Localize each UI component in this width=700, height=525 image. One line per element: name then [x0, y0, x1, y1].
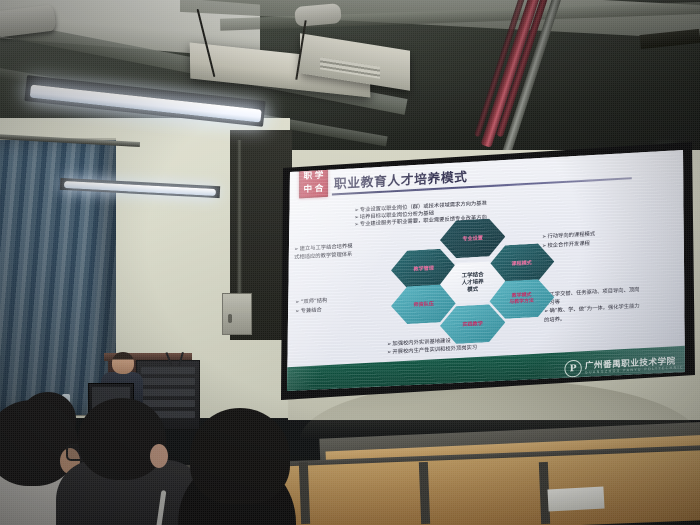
rack-slot: [141, 367, 195, 374]
bullet-marker-icon: ➢: [354, 215, 358, 221]
electrical-box-latch-icon: [228, 314, 232, 323]
bullet-marker-icon: ➢: [295, 299, 299, 305]
seal-char-4: 合: [314, 184, 325, 196]
institution-seal-icon: 职 学 中 合: [299, 168, 328, 198]
list-item: ➢“双师”结构: [295, 297, 327, 307]
presentation-slide: 职 学 中 合 职业教育人才培养模式 ➢专业设置以职业岗位（群）或技术领域需求方…: [287, 148, 687, 393]
left-upper-bullet-list: ➢建立与工学结合培养模式相适应的教学管理体系: [294, 242, 357, 262]
bullet-text: “双师”结构: [301, 298, 328, 306]
bullet-text: 专兼结合: [301, 307, 322, 314]
hex-node-top: 专业设置: [440, 218, 505, 259]
classroom-photo-scene: 职 学 中 合 职业教育人才培养模式 ➢专业设置以职业岗位（群）或技术领域需求方…: [0, 0, 700, 525]
ceiling-vent-small: [294, 3, 342, 27]
bullet-marker-icon: ➢: [387, 350, 391, 356]
institution-logo-icon: P: [564, 359, 581, 377]
bullet-marker-icon: ➢: [354, 207, 358, 213]
audience-head: [78, 398, 166, 480]
electrical-box: [222, 293, 252, 335]
bullet-text: 建立与工学结合培养模式相适应的教学管理体系: [294, 243, 352, 260]
seal-char-2: 学: [314, 170, 325, 182]
audience-head: [190, 408, 290, 504]
seal-char-3: 中: [302, 184, 313, 196]
seal-char-1: 职: [302, 171, 313, 183]
hex-node-bottom-right-line1: 教学模式 与教学方法: [509, 292, 533, 306]
bullet-marker-icon: ➢: [295, 308, 299, 314]
rack-slot: [141, 378, 195, 385]
list-item: ➢专兼结合: [295, 305, 327, 315]
audience-ear: [150, 444, 168, 468]
hex-center-label: 工学结合 人才培养 模式: [462, 271, 484, 294]
paper-sheet-right: [547, 487, 604, 512]
presentation-display[interactable]: 职 学 中 合 职业教育人才培养模式 ➢专业设置以职业岗位（群）或技术领域需求方…: [287, 148, 687, 393]
left-lower-bullet-list: ➢“双师”结构 ➢专兼结合: [295, 297, 327, 316]
rack-slot: [141, 389, 195, 396]
hexagon-diagram: 专业设置 教学管理 课程模式 师资队伍 教学模式 与教学方法 实践教学 工学结合…: [381, 215, 565, 345]
bullet-marker-icon: ➢: [294, 246, 298, 252]
wall-conduit: [237, 140, 242, 310]
presenter-head: [112, 352, 134, 374]
bullet-marker-icon: ➢: [354, 222, 358, 228]
